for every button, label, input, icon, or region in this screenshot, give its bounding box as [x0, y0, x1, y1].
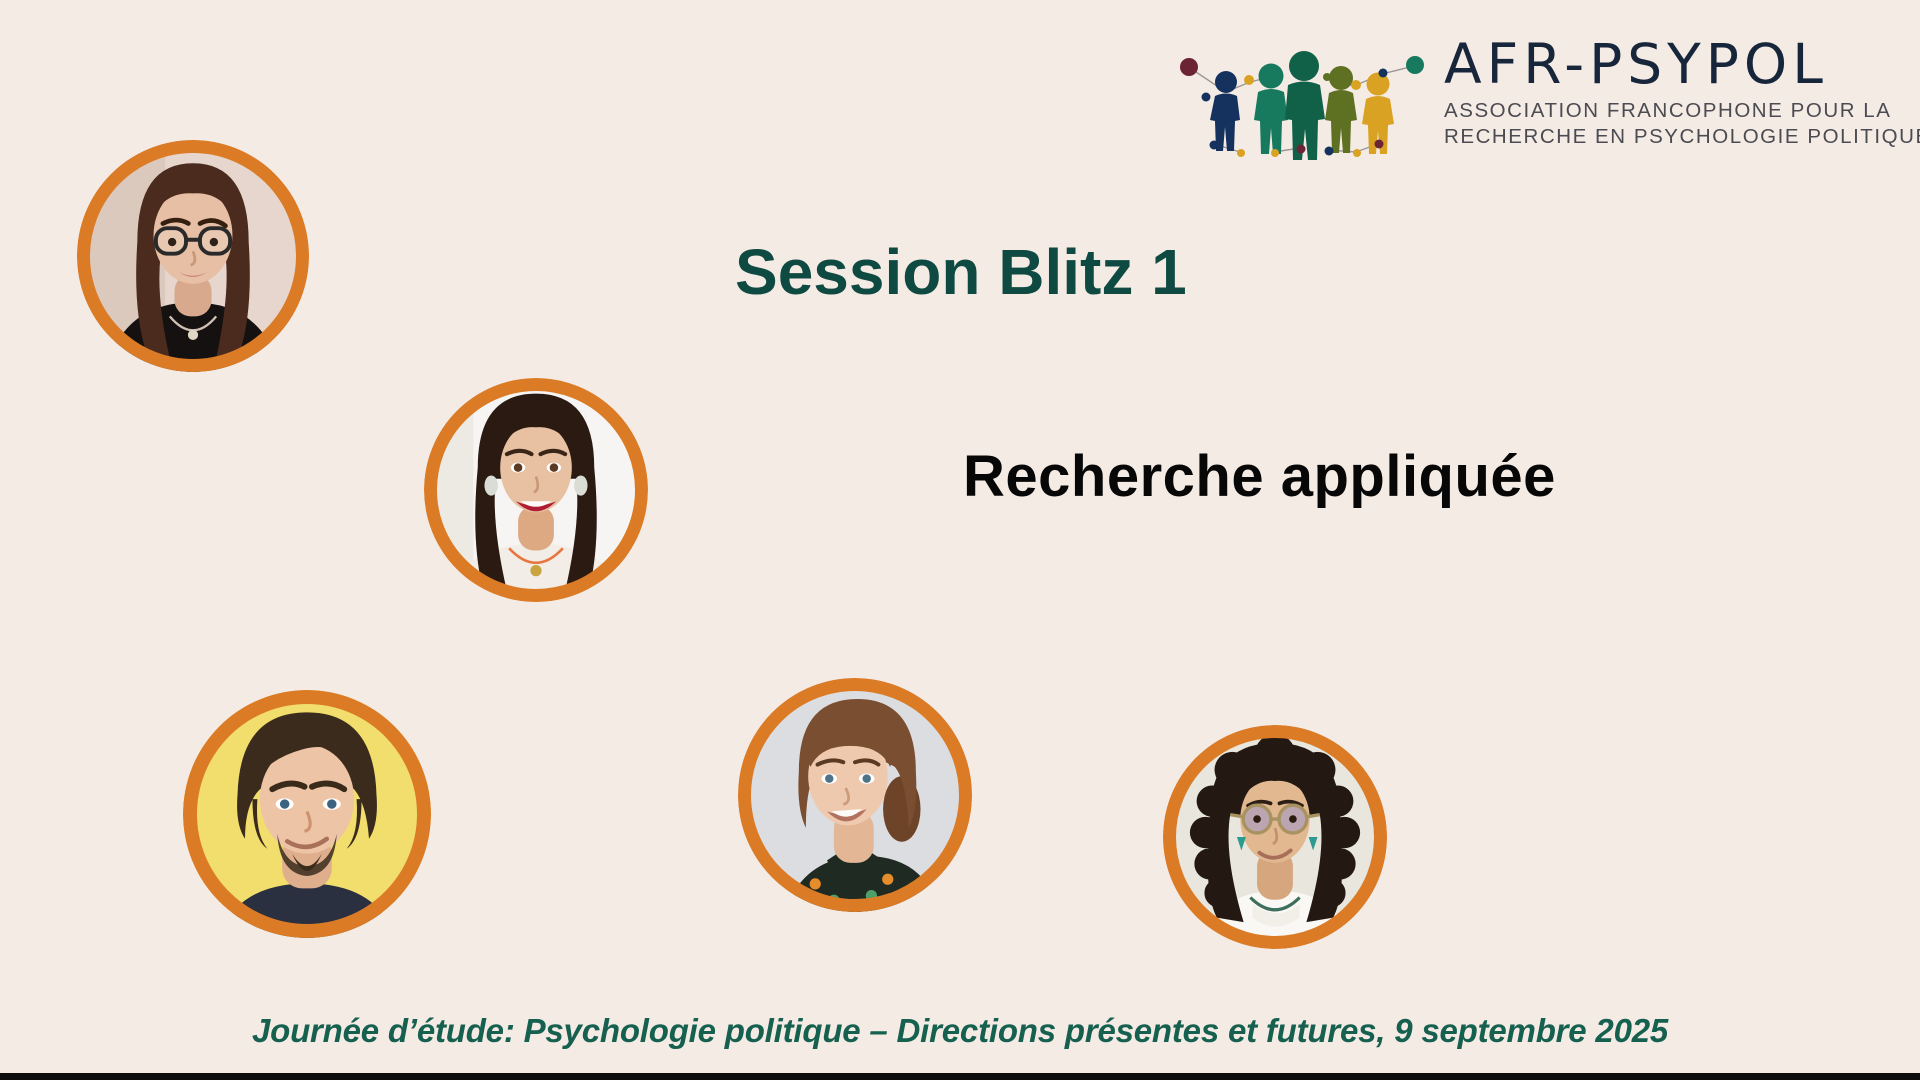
portrait-3-photo	[183, 690, 431, 938]
slide-caption: Journée d’étude: Psychologie politique –…	[0, 1012, 1920, 1050]
portrait-4	[738, 678, 972, 912]
logo-tagline: ASSOCIATION FRANCOPHONE POUR LA RECHERCH…	[1444, 98, 1920, 150]
portrait-2-photo	[424, 378, 648, 602]
logo-text-block: AFR-PSYPOL ASSOCIATION FRANCOPHONE POUR …	[1444, 34, 1920, 151]
slide-title: Session Blitz 1	[735, 235, 1187, 309]
logo-people-icon	[1178, 40, 1430, 160]
logo-tagline-line-2: RECHERCHE EN PSYCHOLOGIE POLITIQUE	[1444, 124, 1920, 150]
portrait-2	[424, 378, 648, 602]
portrait-5-photo	[1163, 725, 1387, 949]
logo-wordmark: AFR-PSYPOL	[1444, 38, 1920, 90]
portrait-1	[77, 140, 309, 372]
portrait-5	[1163, 725, 1387, 949]
afr-psypol-logo: AFR-PSYPOL ASSOCIATION FRANCOPHONE POUR …	[1178, 34, 1898, 164]
presentation-slide: AFR-PSYPOL ASSOCIATION FRANCOPHONE POUR …	[0, 0, 1920, 1080]
portrait-4-photo	[738, 678, 972, 912]
logo-tagline-line-1: ASSOCIATION FRANCOPHONE POUR LA	[1444, 98, 1920, 124]
portrait-3	[183, 690, 431, 938]
portrait-1-photo	[77, 140, 309, 372]
slide-subtitle: Recherche appliquée	[963, 443, 1556, 510]
